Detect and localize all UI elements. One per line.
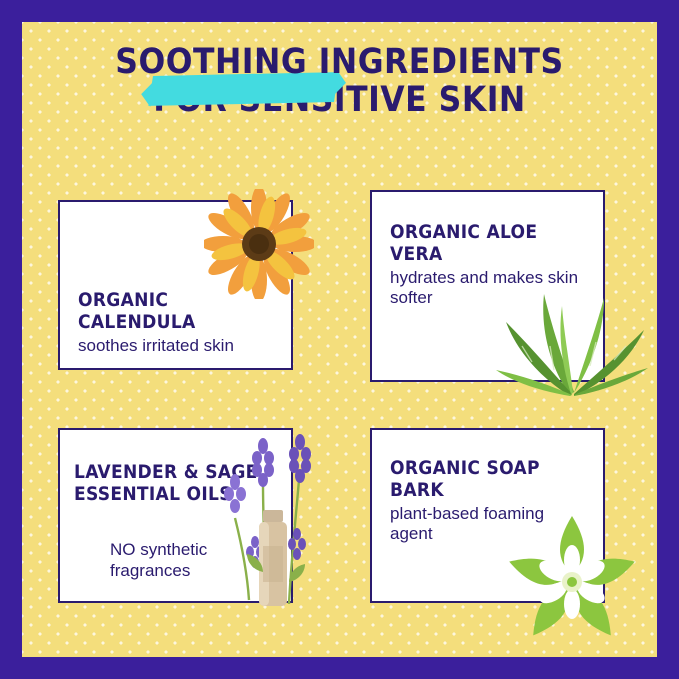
card-subtitle: plant-based foaming agent [390, 504, 590, 545]
card-soap-bark: ORGANIC SOAP BARK plant-based foaming ag… [370, 428, 605, 603]
poster: SOOTHING INGREDIENTS FOR SENSITIVE SKIN [0, 0, 679, 679]
card-title: ORGANIC ALOE VERA [390, 222, 590, 266]
headline-word-ingredients: INGREDIENTS [307, 42, 564, 82]
card-text: LAVENDER & SAGE ESSENTIAL OILS [74, 462, 264, 508]
card-title: ORGANIC SOAP BARK [390, 458, 590, 502]
headline-line-1: SOOTHING INGREDIENTS [22, 44, 657, 82]
card-calendula: ORGANIC CALENDULA soothes irritated skin [58, 200, 293, 370]
card-subtitle: soothes irritated skin [78, 336, 283, 357]
card-text-secondary: NO synthetic fragrances [110, 540, 290, 581]
card-title: LAVENDER & SAGE ESSENTIAL OILS [74, 462, 264, 506]
headline-word-soothing: SOOTHING [115, 42, 307, 82]
card-text: ORGANIC SOAP BARK plant-based foaming ag… [390, 458, 590, 545]
card-subtitle: hydrates and makes skin softer [390, 268, 590, 309]
card-text: ORGANIC ALOE VERA hydrates and makes ski… [390, 222, 590, 309]
card-text: ORGANIC CALENDULA soothes irritated skin [78, 290, 283, 356]
page-title: SOOTHING INGREDIENTS FOR SENSITIVE SKIN [22, 44, 657, 120]
poster-panel: SOOTHING INGREDIENTS FOR SENSITIVE SKIN [22, 22, 657, 657]
card-aloe-vera: ORGANIC ALOE VERA hydrates and makes ski… [370, 190, 605, 382]
card-lavender-sage: LAVENDER & SAGE ESSENTIAL OILS NO synthe… [58, 428, 293, 603]
card-title: ORGANIC CALENDULA [78, 290, 283, 334]
card-subtitle: NO synthetic fragrances [110, 540, 290, 581]
